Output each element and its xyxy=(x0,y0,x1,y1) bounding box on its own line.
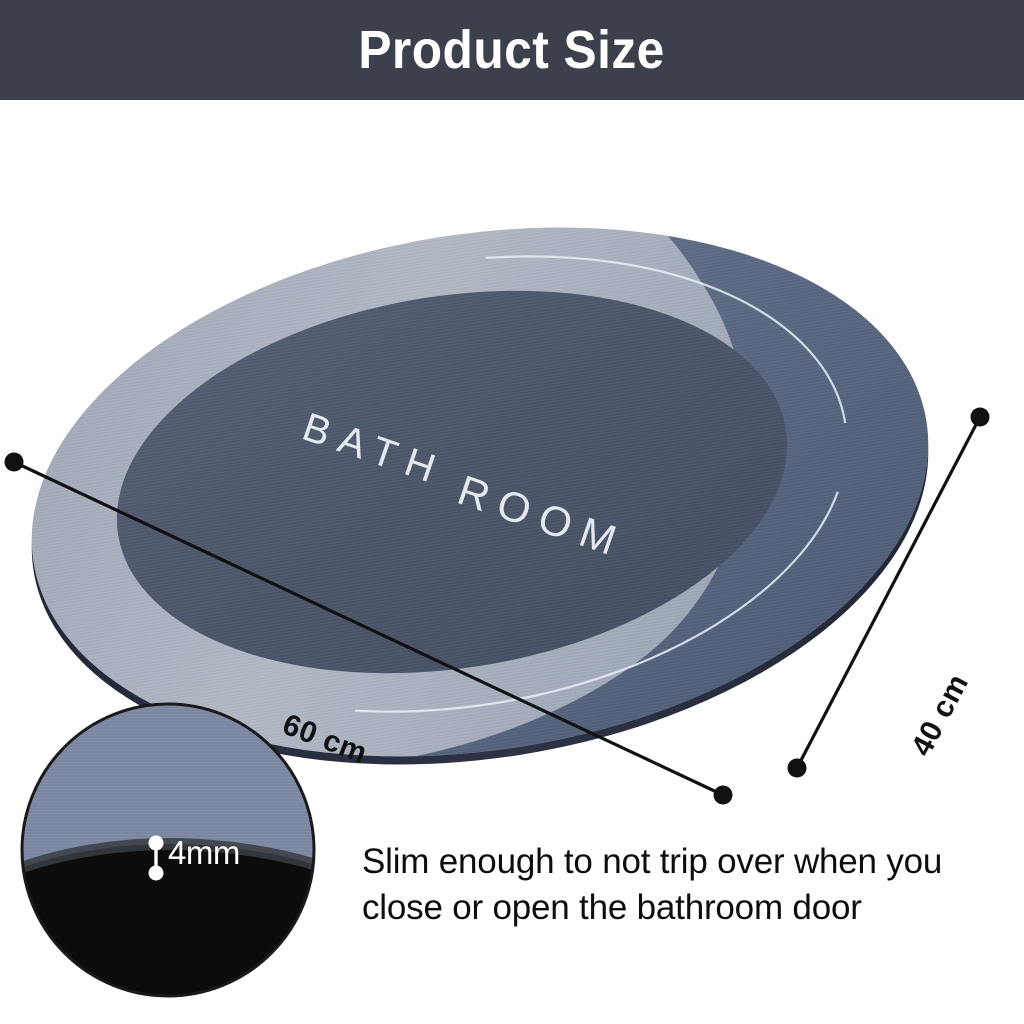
dimension-endpoint-dot xyxy=(714,786,733,805)
product-size-infographic: Product Size xyxy=(0,0,1024,1024)
thickness-label: 4mm xyxy=(168,836,240,869)
page-title: Product Size xyxy=(359,23,665,77)
header-banner: Product Size xyxy=(0,0,1024,100)
caption-line-1: Slim enough to not trip over when you xyxy=(362,839,987,885)
caption-line-2: close or open the bathroom door xyxy=(362,885,987,931)
dimension-endpoint-dot xyxy=(971,408,990,427)
dimension-endpoint-dot xyxy=(5,453,24,472)
feature-caption: Slim enough to not trip over when you cl… xyxy=(362,839,987,931)
dimension-endpoint-dot xyxy=(788,759,807,778)
